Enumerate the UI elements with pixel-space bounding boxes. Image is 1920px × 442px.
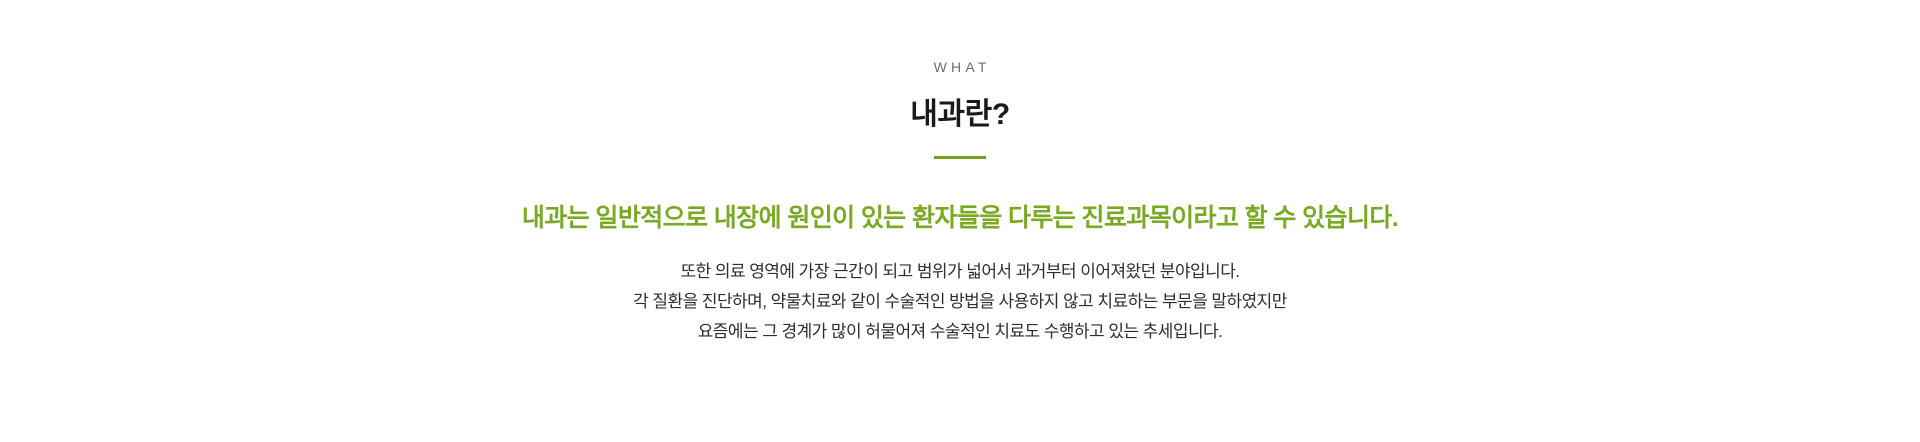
body-paragraph: 또한 의료 영역에 가장 근간이 되고 범위가 넓어서 과거부터 이어져왔던 분… — [633, 257, 1287, 347]
body-line: 각 질환을 진단하며, 약물치료와 같이 수술적인 방법을 사용하지 않고 치료… — [633, 287, 1287, 317]
page-title: 내과란? — [910, 96, 1010, 134]
horizontal-rule-icon — [934, 156, 986, 159]
divider — [934, 150, 986, 164]
what-is-section: WHAT 내과란? 내과는 일반적으로 내장에 원인이 있는 환자들을 다루는 … — [0, 0, 1920, 442]
body-line: 또한 의료 영역에 가장 근간이 되고 범위가 넓어서 과거부터 이어져왔던 분… — [633, 257, 1287, 287]
section-eyebrow-label: WHAT — [929, 58, 990, 76]
lead-sentence: 내과는 일반적으로 내장에 원인이 있는 환자들을 다루는 진료과목이라고 할 … — [522, 201, 1398, 235]
body-line: 요즘에는 그 경계가 많이 허물어져 수술적인 치료도 수행하고 있는 추세입니… — [633, 317, 1287, 347]
